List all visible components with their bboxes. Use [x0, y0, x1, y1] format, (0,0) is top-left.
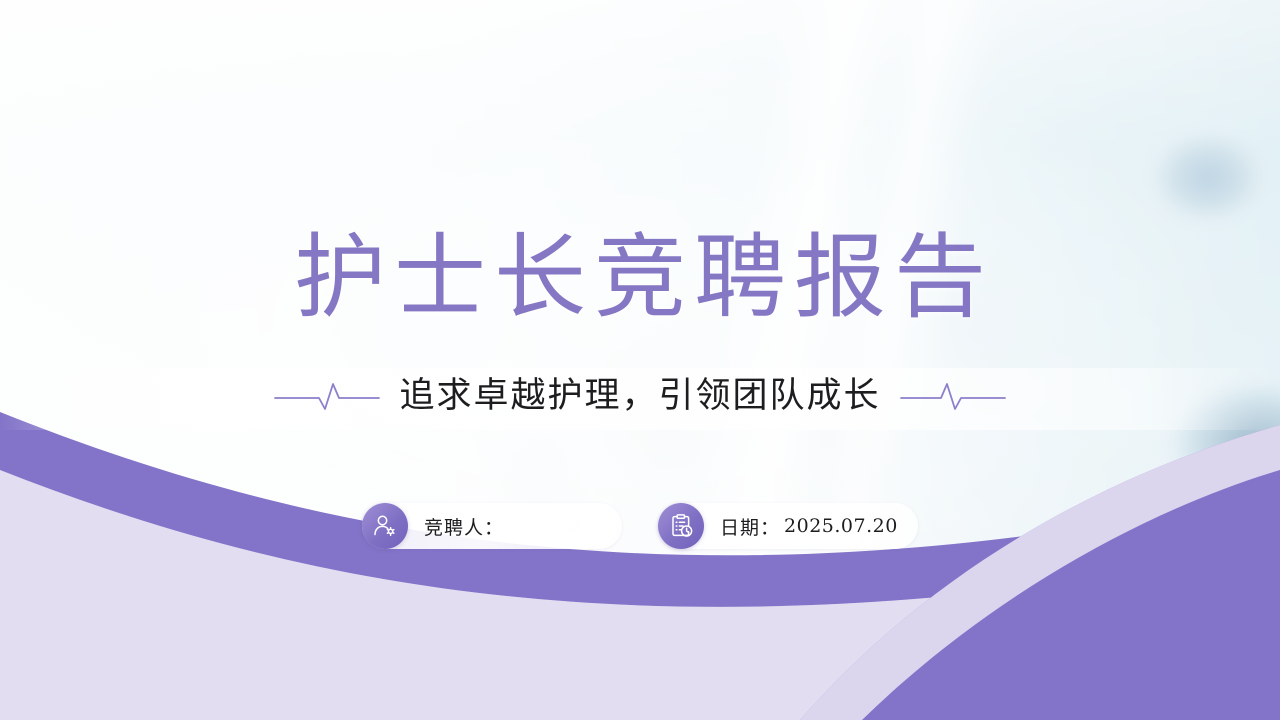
date-value: 2025.07.20: [784, 515, 898, 537]
clipboard-clock-icon: [658, 503, 704, 549]
info-pill-group: 竞聘人： 日期： 2025.07.20: [0, 503, 1280, 549]
candidate-label: 竞聘人：: [424, 513, 504, 540]
subtitle-row: 追求卓越护理，引领团队成长: [0, 375, 1280, 417]
slide-canvas: 护士长竞聘报告 追求卓越护理，引领团队成长 竞聘人：: [0, 0, 1280, 720]
user-settings-icon: [362, 503, 408, 549]
candidate-pill[interactable]: 竞聘人：: [362, 503, 622, 549]
heartbeat-line-right-icon: [899, 379, 1007, 413]
title-area: 护士长竞聘报告: [0, 232, 1280, 324]
page-subtitle: 追求卓越护理，引领团队成长: [399, 375, 880, 417]
page-title: 护士长竞聘报告: [0, 232, 1280, 324]
heartbeat-line-left-icon: [273, 379, 381, 413]
date-label: 日期：: [720, 513, 780, 540]
date-pill[interactable]: 日期： 2025.07.20: [658, 503, 918, 549]
decorative-waves: [0, 0, 1280, 720]
